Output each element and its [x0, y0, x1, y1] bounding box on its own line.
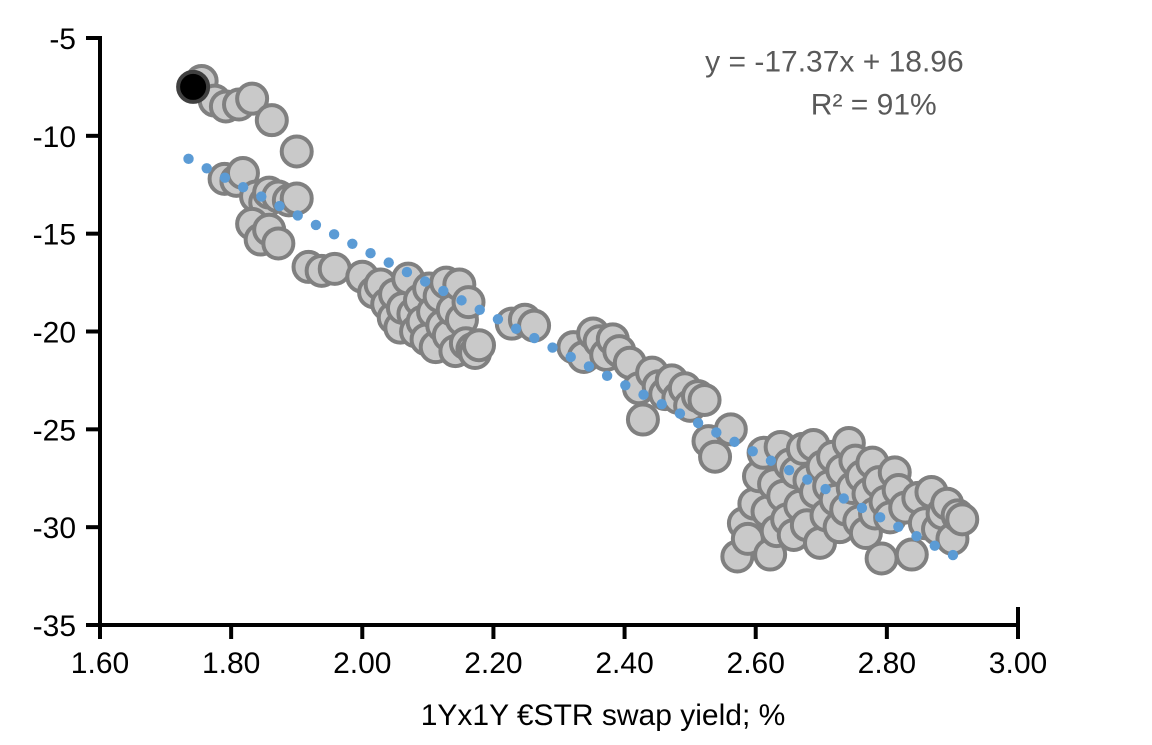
x-tick-label: 2.80	[858, 647, 916, 680]
data-point	[464, 330, 494, 360]
y-tick-label: -20	[33, 317, 76, 350]
trendline-dot	[693, 418, 703, 428]
x-tick-label: 2.60	[727, 647, 785, 680]
data-point	[282, 183, 312, 213]
r-squared-label: R² = 91%	[811, 88, 937, 121]
trendline-dot	[711, 427, 721, 437]
x-tick-label: 3.00	[989, 647, 1047, 680]
trendline-dot	[857, 503, 867, 513]
y-tick-label: -15	[33, 219, 76, 252]
trendline-dot	[311, 220, 321, 230]
data-point	[690, 385, 720, 415]
trendline-dot	[948, 550, 958, 560]
trendline-dot	[220, 173, 230, 183]
trendline-dot	[547, 342, 557, 352]
data-point	[700, 442, 730, 472]
trendline-dot	[493, 314, 503, 324]
data-point	[263, 228, 293, 258]
trendline-dot	[456, 295, 466, 305]
trendline-dot	[839, 493, 849, 503]
trendline-dot	[802, 474, 812, 484]
trendline-dot	[657, 399, 667, 409]
regression-equation: y = -17.37x + 18.96	[705, 45, 964, 78]
chart-canvas: -5-10-15-20-25-30-351.601.802.002.202.40…	[0, 0, 1152, 745]
scatter-chart: -5-10-15-20-25-30-351.601.802.002.202.40…	[0, 0, 1152, 745]
trendline-dot	[584, 361, 594, 371]
x-tick-label: 2.20	[464, 647, 522, 680]
trendline-dot	[911, 531, 921, 541]
trendline-dot	[183, 154, 193, 164]
trendline-dot	[638, 390, 648, 400]
annotations-layer: y = -17.37x + 18.96R² = 91%	[705, 45, 964, 121]
trendline-dot	[784, 465, 794, 475]
data-point	[257, 105, 287, 135]
trendline-dot	[202, 163, 212, 173]
trendline-dot	[402, 267, 412, 277]
trendline-dot	[475, 305, 485, 315]
trendline-dot	[256, 191, 266, 201]
trendline-dot	[274, 201, 284, 211]
trendline-layer	[183, 154, 958, 561]
trendline-dot	[675, 408, 685, 418]
y-tick-label: -5	[49, 23, 76, 56]
x-tick-label: 2.00	[333, 647, 391, 680]
trendline-dot	[293, 210, 303, 220]
data-point	[628, 405, 658, 435]
y-tick-label: -35	[33, 610, 76, 643]
trendline-dot	[820, 484, 830, 494]
data-point	[867, 543, 897, 573]
x-tick-label: 2.40	[595, 647, 653, 680]
trendline-dot	[384, 257, 394, 267]
trendline-dot	[875, 512, 885, 522]
trendline-dot	[347, 239, 357, 249]
trendline-dot	[748, 446, 758, 456]
trendline-dot	[729, 437, 739, 447]
trendline-dot	[766, 456, 776, 466]
trendline-dot	[602, 371, 612, 381]
y-tick-label: -30	[33, 512, 76, 545]
data-markers-layer	[178, 66, 977, 573]
trendline-dot	[365, 248, 375, 258]
x-tick-label: 1.60	[71, 647, 129, 680]
data-point	[947, 504, 977, 534]
x-axis-title: 1Yx1Y €STR swap yield; %	[421, 699, 786, 732]
data-point	[320, 254, 350, 284]
data-point	[282, 136, 312, 166]
trendline-dot	[420, 276, 430, 286]
x-tick-label: 1.80	[202, 647, 260, 680]
data-point	[897, 540, 927, 570]
y-tick-label: -10	[33, 121, 76, 154]
trendline-dot	[238, 182, 248, 192]
y-tick-label: -25	[33, 414, 76, 447]
trendline-dot	[566, 352, 576, 362]
trendline-dot	[511, 323, 521, 333]
trendline-dot	[329, 229, 339, 239]
trendline-dot	[438, 286, 448, 296]
trendline-dot	[930, 540, 940, 550]
trendline-dot	[893, 522, 903, 532]
trendline-dot	[620, 380, 630, 390]
highlighted-data-point	[178, 72, 208, 102]
trendline-dot	[529, 333, 539, 343]
